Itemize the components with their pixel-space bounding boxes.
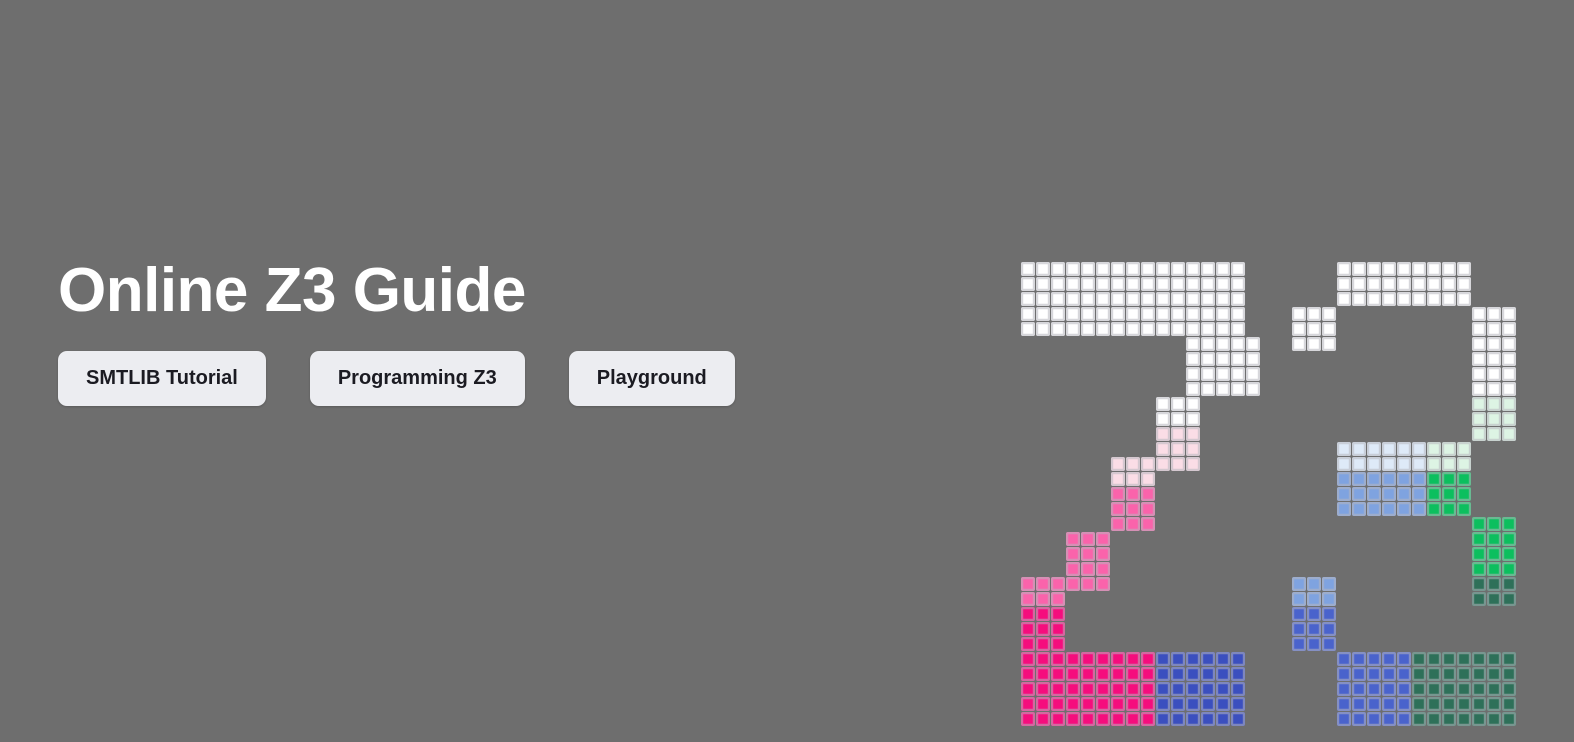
- logo-pixel: [1427, 712, 1441, 726]
- logo-pixel: [1382, 277, 1396, 291]
- logo-pixel: [1487, 667, 1501, 681]
- logo-pixel: [1201, 262, 1215, 276]
- smtlib-tutorial-button[interactable]: SMTLIB Tutorial: [58, 351, 266, 406]
- logo-pixel: [1021, 292, 1035, 306]
- logo-pixel: [1171, 427, 1185, 441]
- logo-pixel: [1502, 667, 1516, 681]
- logo-pixel: [1201, 682, 1215, 696]
- logo-pixel: [1096, 577, 1110, 591]
- logo-pixel: [1367, 697, 1381, 711]
- logo-pixel: [1412, 502, 1426, 516]
- logo-pixel: [1141, 517, 1155, 531]
- logo-pixel: [1502, 352, 1516, 366]
- logo-pixel: [1337, 712, 1351, 726]
- logo-pixel: [1201, 652, 1215, 666]
- logo-pixel: [1367, 262, 1381, 276]
- logo-pixel: [1246, 337, 1260, 351]
- logo-pixel: [1066, 682, 1080, 696]
- logo-pixel: [1457, 472, 1471, 486]
- logo-pixel: [1502, 547, 1516, 561]
- logo-pixel: [1171, 307, 1185, 321]
- logo-pixel: [1066, 292, 1080, 306]
- logo-pixel: [1472, 697, 1486, 711]
- logo-pixel: [1051, 262, 1065, 276]
- logo-pixel: [1066, 577, 1080, 591]
- logo-pixel: [1096, 652, 1110, 666]
- logo-pixel: [1141, 697, 1155, 711]
- logo-pixel: [1367, 472, 1381, 486]
- logo-pixel: [1292, 307, 1306, 321]
- logo-pixel: [1051, 667, 1065, 681]
- logo-pixel: [1156, 307, 1170, 321]
- logo-pixel: [1442, 442, 1456, 456]
- logo-pixel: [1337, 277, 1351, 291]
- logo-pixel: [1427, 472, 1441, 486]
- logo-pixel: [1246, 352, 1260, 366]
- logo-pixel: [1307, 322, 1321, 336]
- logo-pixel: [1081, 682, 1095, 696]
- logo-pixel: [1246, 382, 1260, 396]
- logo-pixel: [1487, 532, 1501, 546]
- logo-pixel: [1081, 712, 1095, 726]
- logo-pixel: [1337, 652, 1351, 666]
- logo-pixel: [1156, 697, 1170, 711]
- logo-pixel: [1141, 652, 1155, 666]
- logo-pixel: [1111, 517, 1125, 531]
- logo-pixel: [1457, 667, 1471, 681]
- logo-pixel: [1502, 592, 1516, 606]
- logo-pixel: [1216, 292, 1230, 306]
- logo-pixel: [1322, 307, 1336, 321]
- logo-pixel: [1216, 667, 1230, 681]
- logo-pixel: [1352, 682, 1366, 696]
- logo-pixel: [1231, 697, 1245, 711]
- logo-pixel: [1502, 562, 1516, 576]
- logo-pixel: [1427, 652, 1441, 666]
- logo-pixel: [1111, 457, 1125, 471]
- logo-pixel: [1352, 442, 1366, 456]
- logo-pixel: [1051, 682, 1065, 696]
- logo-pixel: [1246, 367, 1260, 381]
- logo-pixel: [1352, 457, 1366, 471]
- logo-pixel: [1322, 637, 1336, 651]
- logo-pixel: [1051, 607, 1065, 621]
- logo-pixel: [1171, 412, 1185, 426]
- logo-pixel: [1442, 457, 1456, 471]
- logo-pixel: [1111, 292, 1125, 306]
- logo-pixel: [1427, 292, 1441, 306]
- logo-pixel: [1231, 337, 1245, 351]
- logo-pixel: [1472, 337, 1486, 351]
- logo-pixel: [1457, 712, 1471, 726]
- logo-pixel: [1442, 652, 1456, 666]
- logo-pixel: [1307, 622, 1321, 636]
- logo-pixel: [1036, 577, 1050, 591]
- logo-pixel: [1186, 382, 1200, 396]
- logo-pixel: [1397, 682, 1411, 696]
- logo-pixel: [1472, 412, 1486, 426]
- logo-pixel: [1231, 382, 1245, 396]
- logo-pixel: [1457, 292, 1471, 306]
- logo-pixel: [1156, 457, 1170, 471]
- logo-pixel: [1081, 277, 1095, 291]
- logo-pixel: [1066, 652, 1080, 666]
- logo-pixel: [1021, 667, 1035, 681]
- logo-pixel: [1412, 487, 1426, 501]
- logo-pixel: [1487, 682, 1501, 696]
- logo-pixel: [1036, 682, 1050, 696]
- logo-pixel: [1442, 697, 1456, 711]
- logo-pixel: [1141, 667, 1155, 681]
- logo-pixel: [1457, 697, 1471, 711]
- logo-pixel: [1397, 487, 1411, 501]
- logo-pixel: [1292, 322, 1306, 336]
- logo-pixel: [1216, 682, 1230, 696]
- logo-pixel: [1412, 682, 1426, 696]
- logo-pixel: [1216, 337, 1230, 351]
- logo-pixel: [1201, 712, 1215, 726]
- logo-pixel: [1156, 412, 1170, 426]
- logo-pixel: [1472, 592, 1486, 606]
- logo-pixel: [1141, 307, 1155, 321]
- logo-pixel: [1352, 652, 1366, 666]
- logo-pixel: [1397, 697, 1411, 711]
- logo-pixel: [1021, 712, 1035, 726]
- logo-pixel: [1397, 472, 1411, 486]
- logo-pixel: [1186, 682, 1200, 696]
- z3-pixel-logo: [1021, 262, 1521, 592]
- logo-pixel: [1111, 322, 1125, 336]
- logo-pixel: [1156, 262, 1170, 276]
- logo-pixel: [1141, 487, 1155, 501]
- logo-pixel: [1096, 262, 1110, 276]
- logo-pixel: [1201, 352, 1215, 366]
- logo-pixel: [1487, 352, 1501, 366]
- logo-pixel: [1021, 607, 1035, 621]
- logo-pixel: [1111, 712, 1125, 726]
- logo-pixel: [1337, 457, 1351, 471]
- logo-pixel: [1081, 652, 1095, 666]
- logo-pixel: [1502, 532, 1516, 546]
- logo-pixel: [1352, 667, 1366, 681]
- logo-pixel: [1051, 652, 1065, 666]
- logo-pixel: [1367, 712, 1381, 726]
- logo-pixel: [1231, 307, 1245, 321]
- logo-pixel: [1502, 712, 1516, 726]
- logo-pixel: [1442, 292, 1456, 306]
- logo-pixel: [1337, 292, 1351, 306]
- logo-pixel: [1472, 532, 1486, 546]
- logo-pixel: [1322, 337, 1336, 351]
- logo-pixel: [1081, 292, 1095, 306]
- programming-z3-button[interactable]: Programming Z3: [310, 351, 525, 406]
- logo-pixel: [1141, 262, 1155, 276]
- logo-pixel: [1487, 652, 1501, 666]
- logo-pixel: [1126, 277, 1140, 291]
- logo-pixel: [1457, 442, 1471, 456]
- logo-pixel: [1457, 652, 1471, 666]
- logo-pixel: [1111, 277, 1125, 291]
- logo-pixel: [1156, 667, 1170, 681]
- logo-pixel: [1156, 397, 1170, 411]
- logo-pixel: [1036, 307, 1050, 321]
- logo-pixel: [1352, 502, 1366, 516]
- logo-pixel: [1201, 307, 1215, 321]
- logo-pixel: [1367, 502, 1381, 516]
- logo-pixel: [1292, 622, 1306, 636]
- logo-pixel: [1141, 277, 1155, 291]
- logo-pixel: [1472, 322, 1486, 336]
- logo-pixel: [1397, 667, 1411, 681]
- logo-pixel: [1427, 502, 1441, 516]
- logo-pixel: [1412, 652, 1426, 666]
- logo-pixel: [1397, 652, 1411, 666]
- logo-pixel: [1216, 277, 1230, 291]
- page-title: Online Z3 Guide: [58, 258, 958, 325]
- logo-pixel: [1171, 457, 1185, 471]
- logo-pixel: [1397, 292, 1411, 306]
- logo-pixel: [1231, 292, 1245, 306]
- logo-pixel: [1502, 652, 1516, 666]
- logo-pixel: [1051, 292, 1065, 306]
- logo-pixel: [1126, 697, 1140, 711]
- logo-pixel: [1096, 307, 1110, 321]
- logo-pixel: [1126, 457, 1140, 471]
- logo-pixel: [1216, 352, 1230, 366]
- logo-pixel: [1337, 502, 1351, 516]
- logo-pixel: [1231, 322, 1245, 336]
- logo-pixel: [1427, 457, 1441, 471]
- logo-pixel: [1216, 652, 1230, 666]
- logo-pixel: [1307, 637, 1321, 651]
- logo-pixel: [1502, 397, 1516, 411]
- logo-pixel: [1487, 427, 1501, 441]
- cta-button-row: SMTLIB Tutorial Programming Z3 Playgroun…: [58, 351, 958, 406]
- logo-pixel: [1066, 667, 1080, 681]
- logo-pixel: [1472, 667, 1486, 681]
- logo-pixel: [1337, 262, 1351, 276]
- logo-pixel: [1081, 667, 1095, 681]
- logo-pixel: [1322, 322, 1336, 336]
- logo-pixel: [1382, 667, 1396, 681]
- logo-pixel: [1036, 262, 1050, 276]
- logo-pixel: [1337, 442, 1351, 456]
- logo-pixel: [1126, 292, 1140, 306]
- logo-pixel: [1051, 697, 1065, 711]
- logo-pixel: [1066, 697, 1080, 711]
- logo-pixel: [1502, 382, 1516, 396]
- logo-pixel: [1382, 502, 1396, 516]
- logo-pixel: [1126, 322, 1140, 336]
- logo-pixel: [1442, 682, 1456, 696]
- logo-pixel: [1111, 502, 1125, 516]
- logo-pixel: [1051, 322, 1065, 336]
- logo-pixel: [1021, 682, 1035, 696]
- logo-pixel: [1036, 277, 1050, 291]
- logo-pixel: [1171, 397, 1185, 411]
- logo-pixel: [1081, 307, 1095, 321]
- logo-pixel: [1487, 397, 1501, 411]
- logo-pixel: [1231, 682, 1245, 696]
- logo-pixel: [1397, 262, 1411, 276]
- logo-pixel: [1472, 382, 1486, 396]
- logo-pixel: [1502, 337, 1516, 351]
- logo-pixel: [1096, 682, 1110, 696]
- logo-pixel: [1487, 517, 1501, 531]
- logo-pixel: [1307, 592, 1321, 606]
- logo-pixel: [1487, 337, 1501, 351]
- logo-pixel: [1412, 697, 1426, 711]
- logo-pixel: [1021, 577, 1035, 591]
- logo-pixel: [1156, 442, 1170, 456]
- logo-pixel: [1367, 487, 1381, 501]
- logo-pixel: [1367, 667, 1381, 681]
- logo-pixel: [1382, 697, 1396, 711]
- logo-pixel: [1231, 667, 1245, 681]
- logo-pixel: [1051, 637, 1065, 651]
- logo-pixel: [1081, 577, 1095, 591]
- logo-pixel: [1201, 367, 1215, 381]
- logo-pixel: [1201, 337, 1215, 351]
- logo-pixel: [1171, 262, 1185, 276]
- logo-pixel: [1126, 517, 1140, 531]
- logo-pixel: [1096, 532, 1110, 546]
- logo-pixel: [1487, 382, 1501, 396]
- logo-pixel: [1352, 697, 1366, 711]
- logo-pixel: [1216, 307, 1230, 321]
- logo-pixel: [1141, 292, 1155, 306]
- logo-pixel: [1081, 697, 1095, 711]
- logo-pixel: [1186, 697, 1200, 711]
- logo-pixel: [1156, 427, 1170, 441]
- logo-pixel: [1487, 712, 1501, 726]
- logo-pixel: [1412, 712, 1426, 726]
- logo-pixel: [1111, 472, 1125, 486]
- logo-pixel: [1186, 337, 1200, 351]
- logo-pixel: [1442, 472, 1456, 486]
- logo-pixel: [1502, 412, 1516, 426]
- logo-pixel: [1036, 322, 1050, 336]
- logo-pixel: [1487, 322, 1501, 336]
- logo-pixel: [1111, 667, 1125, 681]
- logo-pixel: [1096, 322, 1110, 336]
- logo-pixel: [1111, 652, 1125, 666]
- logo-pixel: [1412, 277, 1426, 291]
- logo-pixel: [1322, 577, 1336, 591]
- logo-pixel: [1126, 652, 1140, 666]
- logo-pixel: [1021, 622, 1035, 636]
- logo-pixel: [1487, 547, 1501, 561]
- logo-pixel: [1412, 262, 1426, 276]
- logo-pixel: [1502, 682, 1516, 696]
- logo-pixel: [1352, 277, 1366, 291]
- logo-pixel: [1201, 292, 1215, 306]
- logo-pixel: [1487, 562, 1501, 576]
- logo-pixel: [1231, 262, 1245, 276]
- logo-pixel: [1171, 652, 1185, 666]
- logo-pixel: [1186, 262, 1200, 276]
- logo-pixel: [1066, 712, 1080, 726]
- logo-pixel: [1186, 457, 1200, 471]
- logo-pixel: [1066, 262, 1080, 276]
- logo-pixel: [1066, 547, 1080, 561]
- logo-pixel: [1156, 682, 1170, 696]
- logo-pixel: [1201, 382, 1215, 396]
- logo-pixel: [1096, 667, 1110, 681]
- logo-pixel: [1141, 472, 1155, 486]
- logo-pixel: [1412, 457, 1426, 471]
- logo-pixel: [1021, 637, 1035, 651]
- logo-pixel: [1502, 367, 1516, 381]
- logo-pixel: [1141, 712, 1155, 726]
- logo-pixel: [1141, 322, 1155, 336]
- logo-pixel: [1487, 367, 1501, 381]
- logo-pixel: [1171, 442, 1185, 456]
- logo-pixel: [1216, 712, 1230, 726]
- logo-pixel: [1442, 277, 1456, 291]
- logo-pixel: [1186, 442, 1200, 456]
- logo-pixel: [1367, 682, 1381, 696]
- logo-pixel: [1442, 667, 1456, 681]
- logo-pixel: [1292, 337, 1306, 351]
- logo-pixel: [1081, 547, 1095, 561]
- logo-pixel: [1186, 292, 1200, 306]
- logo-pixel: [1382, 712, 1396, 726]
- logo-pixel: [1442, 502, 1456, 516]
- logo-pixel: [1472, 712, 1486, 726]
- logo-pixel: [1186, 277, 1200, 291]
- logo-pixel: [1352, 472, 1366, 486]
- logo-pixel: [1457, 277, 1471, 291]
- logo-pixel: [1472, 517, 1486, 531]
- logo-pixel: [1427, 262, 1441, 276]
- logo-pixel: [1171, 322, 1185, 336]
- logo-pixel: [1307, 577, 1321, 591]
- logo-pixel: [1111, 307, 1125, 321]
- logo-pixel: [1186, 712, 1200, 726]
- logo-pixel: [1186, 652, 1200, 666]
- logo-pixel: [1051, 622, 1065, 636]
- logo-pixel: [1081, 532, 1095, 546]
- logo-pixel: [1502, 517, 1516, 531]
- logo-pixel: [1126, 472, 1140, 486]
- logo-pixel: [1457, 682, 1471, 696]
- logo-pixel: [1111, 682, 1125, 696]
- logo-pixel: [1412, 472, 1426, 486]
- logo-pixel: [1307, 607, 1321, 621]
- logo-pixel: [1472, 682, 1486, 696]
- logo-pixel: [1442, 712, 1456, 726]
- logo-pixel: [1216, 697, 1230, 711]
- logo-pixel: [1367, 457, 1381, 471]
- logo-pixel: [1382, 457, 1396, 471]
- logo-pixel: [1502, 577, 1516, 591]
- logo-pixel: [1036, 607, 1050, 621]
- logo-pixel: [1352, 712, 1366, 726]
- playground-button[interactable]: Playground: [569, 351, 735, 406]
- logo-pixel: [1156, 277, 1170, 291]
- logo-pixel: [1457, 457, 1471, 471]
- logo-pixel: [1141, 502, 1155, 516]
- logo-pixel: [1487, 307, 1501, 321]
- logo-pixel: [1216, 262, 1230, 276]
- logo-pixel: [1201, 697, 1215, 711]
- logo-pixel: [1186, 307, 1200, 321]
- logo-pixel: [1307, 337, 1321, 351]
- logo-pixel: [1066, 307, 1080, 321]
- logo-pixel: [1201, 667, 1215, 681]
- logo-pixel: [1382, 487, 1396, 501]
